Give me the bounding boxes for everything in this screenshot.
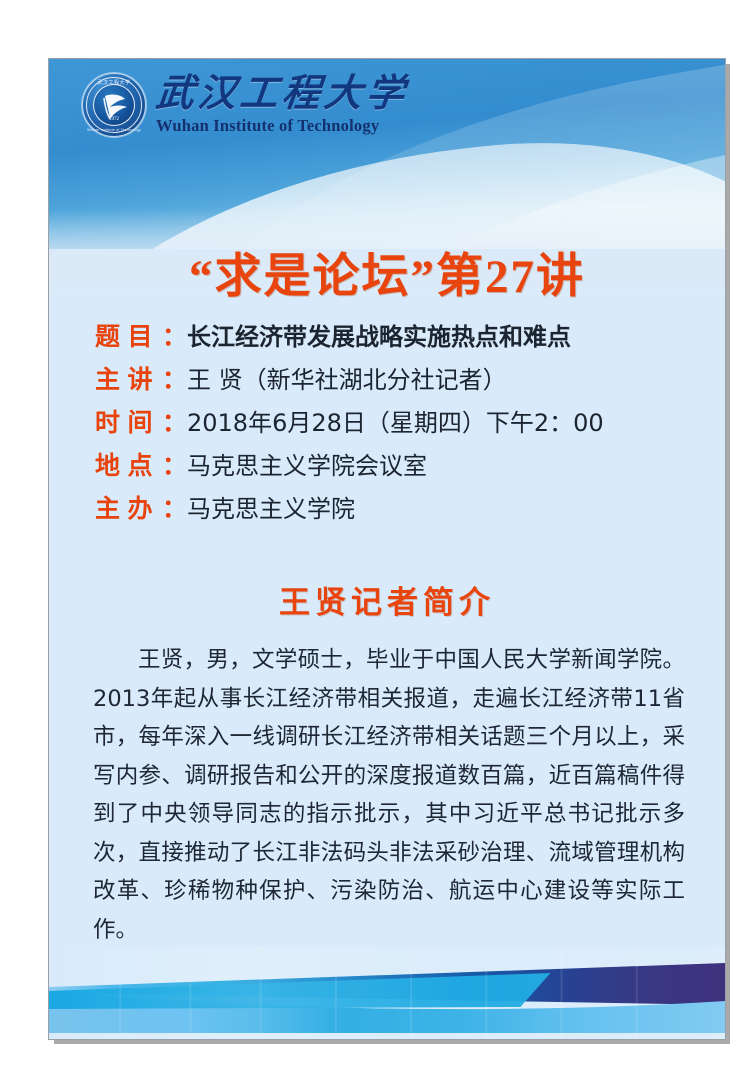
university-logo-lockup: 武汉工程大学 1972 Wuhan Institute of Technolog… [82,73,408,137]
poster-root: 武汉工程大学 1972 Wuhan Institute of Technolog… [0,0,742,1068]
info-label-organizer-colon: ： [162,489,187,525]
info-label-venue-char2: 点 [127,446,152,482]
seal-bottom-text: Wuhan Institute of Technology [83,128,145,132]
info-label-speaker: 主 讲 ： [95,360,187,396]
info-label-organizer-char1: 主 [95,489,120,525]
info-label-topic-char1: 题 [95,317,120,353]
info-label-time-char2: 间 [127,403,152,439]
university-name-en: Wuhan Institute of Technology [156,116,408,136]
info-label-speaker-char1: 主 [95,360,120,396]
info-label-organizer: 主 办 ： [95,489,187,525]
speaker-bio-paragraph: 王贤，男，文学硕士，毕业于中国人民大学新闻学院。2013年起从事长江经济带相关报… [93,641,685,949]
wit-seal-logo-icon: 武汉工程大学 1972 Wuhan Institute of Technolog… [82,73,146,137]
info-value-topic: 长江经济带发展战略实施热点和难点 [187,317,571,352]
info-value-venue: 马克思主义学院会议室 [187,446,427,481]
university-name-cn: 武汉工程大学 [154,74,410,114]
info-row-topic: 题 目 ： 长江经济带发展战略实施热点和难点 [95,317,695,353]
info-row-speaker: 主 讲 ： 王 贤（新华社湖北分社记者） [95,360,695,396]
event-info-block: 题 目 ： 长江经济带发展战略实施热点和难点 主 讲 ： 王 贤（新华社湖北分社… [95,317,695,532]
info-label-organizer-char2: 办 [127,489,152,525]
wave-graphic-icon [49,947,725,1039]
seal-flame-mark-icon [83,74,145,136]
info-label-speaker-char2: 讲 [127,360,152,396]
bottom-wave-decoration [49,947,725,1039]
speaker-bio-heading: 王贤记者简介 [49,577,725,622]
info-value-speaker: 王 贤（新华社湖北分社记者） [187,360,507,395]
poster-main-title: “求是论坛”第27讲 [49,237,725,306]
info-label-topic: 题 目 ： [95,317,187,353]
info-label-topic-colon: ： [162,317,187,353]
university-name-group: 武汉工程大学 Wuhan Institute of Technology [156,74,408,135]
info-label-topic-char2: 目 [127,317,152,353]
seal-year: 1972 [83,117,145,122]
info-label-time: 时 间 ： [95,403,187,439]
info-row-organizer: 主 办 ： 马克思主义学院 [95,489,695,525]
info-row-venue: 地 点 ： 马克思主义学院会议室 [95,446,695,482]
info-value-organizer: 马克思主义学院 [187,489,355,524]
info-label-venue-char1: 地 [95,446,120,482]
poster-frame: 武汉工程大学 1972 Wuhan Institute of Technolog… [48,58,726,1040]
info-label-time-char1: 时 [95,403,120,439]
info-label-venue-colon: ： [162,446,187,482]
info-row-time: 时 间 ： 2018年6月28日（星期四）下午2：00 [95,403,695,439]
info-label-time-colon: ： [162,403,187,439]
info-label-venue: 地 点 ： [95,446,187,482]
info-value-time: 2018年6月28日（星期四）下午2：00 [187,403,604,438]
info-label-speaker-colon: ： [162,360,187,396]
